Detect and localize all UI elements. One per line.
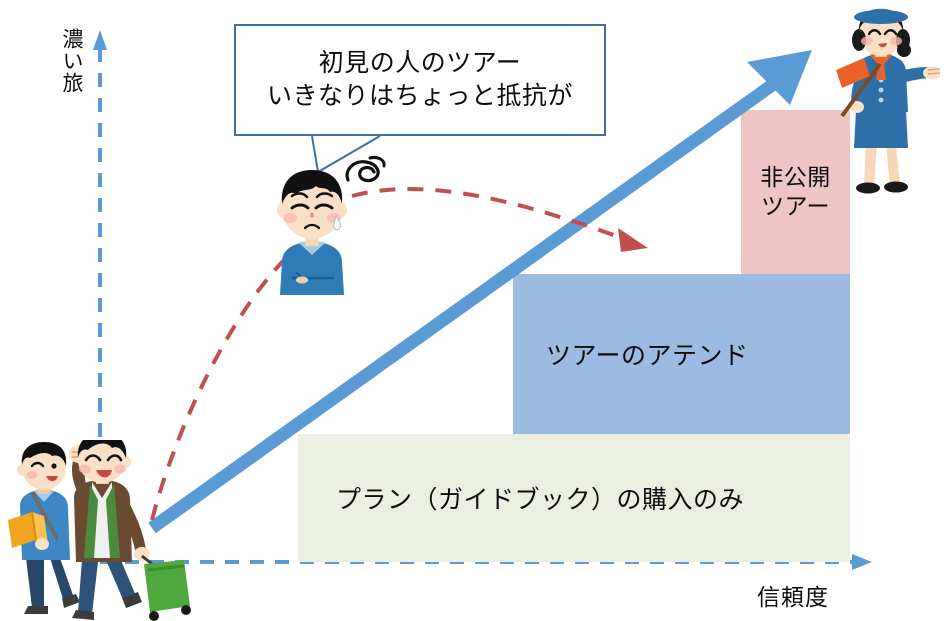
bar-plan: プラン（ガイドブック）の購入のみ bbox=[298, 434, 850, 562]
y-axis-label: 濃い旅 bbox=[48, 28, 82, 94]
speech-bubble: 初見の人のツアー いきなりはちょっと抵抗が bbox=[234, 24, 606, 136]
distress-swirl-icon bbox=[340, 152, 388, 200]
speech-bubble-text: 初見の人のツアー いきなりはちょっと抵抗が bbox=[267, 47, 573, 114]
bar-attend-label: ツアーのアテンド bbox=[546, 336, 749, 372]
speech-bubble-line2: いきなりはちょっと抵抗が bbox=[267, 82, 573, 110]
x-axis-label: 信頼度 bbox=[757, 578, 829, 612]
traveler-with-book bbox=[8, 442, 80, 614]
bar-plan-label: プラン（ガイドブック）の購入のみ bbox=[336, 480, 744, 516]
bar-private-label-line1: 非公開 bbox=[760, 164, 831, 190]
speech-bubble-line1: 初見の人のツアー bbox=[319, 49, 522, 77]
traveler-with-suitcase bbox=[69, 440, 191, 621]
bar-private-label: 非公開 ツアー bbox=[760, 163, 831, 222]
bar-attend: ツアーのアテンド bbox=[513, 274, 850, 434]
tour-guide-illustration bbox=[828, 6, 940, 206]
two-travelers-illustration bbox=[2, 440, 202, 621]
diagram-canvas: 濃い旅 プラン（ガイドブック）の購入のみ ツアーのアテンド 非公開 ツアー 初見… bbox=[0, 0, 944, 621]
bar-private-label-line2: ツアー bbox=[761, 193, 830, 219]
